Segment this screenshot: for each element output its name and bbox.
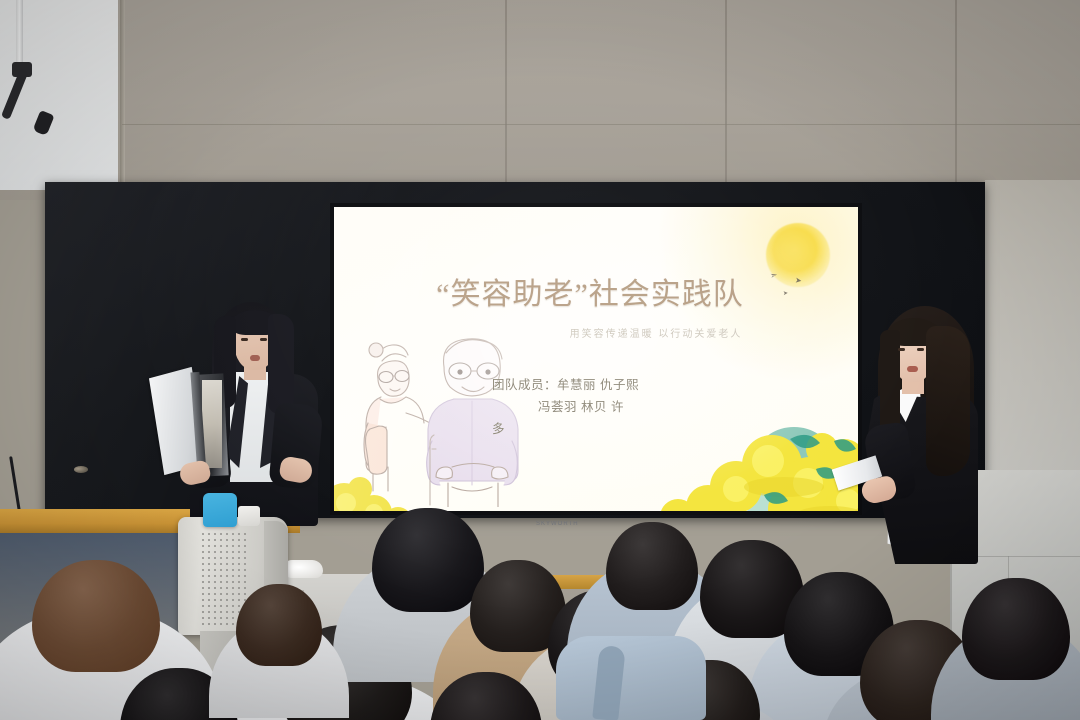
audience-head <box>606 522 698 610</box>
chrysanthemum-cluster-left <box>334 455 420 511</box>
eye-right <box>260 338 267 341</box>
camera-pole <box>16 0 23 68</box>
eye-left <box>898 348 905 351</box>
hair-side-right <box>926 326 970 476</box>
slide-title: “笑容助老”社会实践队 <box>334 269 846 313</box>
mouth <box>907 366 918 372</box>
wall-seam <box>122 124 1080 125</box>
audience-head <box>32 560 160 672</box>
display-brand-label: SKYWORTH <box>536 521 579 527</box>
hair-side-right <box>268 314 294 414</box>
cup <box>238 506 260 526</box>
water-bottle <box>203 493 237 527</box>
audience-head <box>372 508 484 612</box>
slide-subtitle: 用笑容传递温暖 以行动关爱老人 <box>484 325 828 340</box>
audience-head <box>962 578 1070 680</box>
slide-content: ➣ ➤ ➤ <box>334 207 858 511</box>
wall-column-edge <box>120 0 125 196</box>
members-line-1: 团队成员：牟慧丽 仇子熙 <box>492 375 742 397</box>
projection-screen[interactable]: ➣ ➤ ➤ <box>330 203 862 515</box>
audience-head <box>236 584 322 666</box>
presenter-right <box>856 306 1001 566</box>
mouth <box>250 355 260 361</box>
light-blue-backpack <box>556 636 706 720</box>
members-line-3: 多 <box>492 419 742 441</box>
wall-seam <box>505 0 507 200</box>
slide-team-members: 团队成员：牟慧丽 仇子熙 冯荟羽 林贝 许 多 <box>492 375 742 441</box>
classroom-presentation-photo: ➣ ➤ ➤ <box>0 0 1080 720</box>
upper-wall <box>0 0 1080 200</box>
tissue-pack <box>283 560 323 578</box>
presenter-left <box>168 300 333 525</box>
wall-seam <box>725 0 727 200</box>
members-line-2: 冯荟羽 林贝 许 <box>492 397 742 419</box>
eye-right <box>917 348 924 351</box>
eye-left <box>241 338 248 341</box>
wall-seam <box>955 0 957 200</box>
chalk-mark <box>74 466 88 473</box>
